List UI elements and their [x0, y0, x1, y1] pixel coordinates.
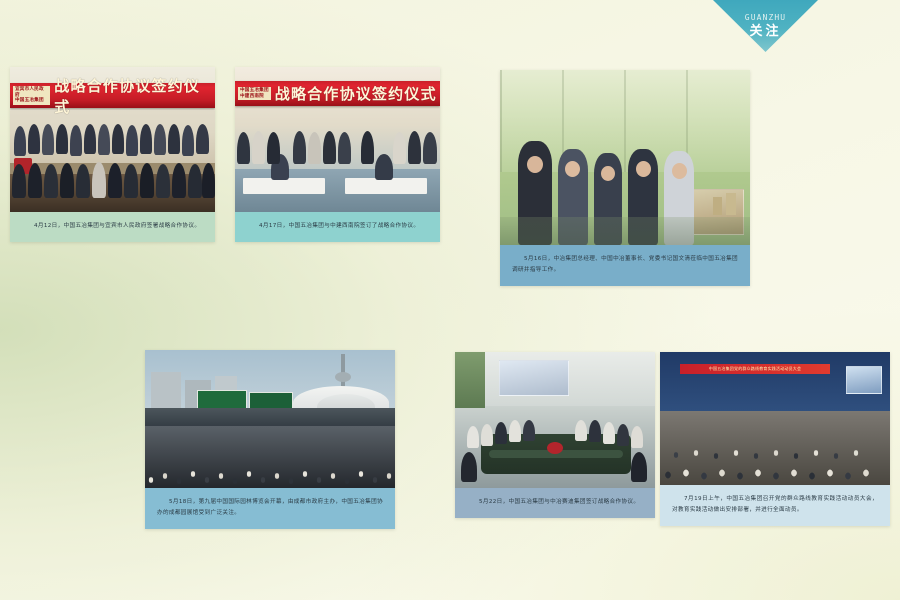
guanzhu-badge: GUANZHU 关注	[713, 0, 818, 52]
crowd-row-front	[10, 148, 215, 198]
photo-scene	[500, 70, 750, 245]
photo-caption-3: 5月16日，中冶集团总经理、中国中冶董事长、党委书记国文清莅临中国五冶集团调研并…	[500, 245, 750, 286]
photo-caption-1: 4月12日，中国五冶集团与宜宾市人民政府签署战略合作协议。	[10, 212, 215, 242]
badge-chinese-label: 关注	[749, 25, 781, 38]
expo-crowd	[145, 426, 395, 488]
photo-card-4[interactable]: 5月18日，第九届中国国际园林博览会开幕，由成都市政府主办，中国五冶集团协办的成…	[145, 350, 395, 529]
photo-signing-ceremony-cscec: 中国五冶集团 中建西南院 战略合作协议签约仪式	[235, 67, 440, 212]
caption-text: 4月17日，中国五冶集团与中建西南院签订了战略合作协议。	[259, 223, 419, 229]
badge-english-label: GUANZHU	[745, 14, 786, 22]
witness-row	[235, 116, 440, 164]
photo-scene: 中国五冶集团 中建西南院 战略合作协议签约仪式	[235, 67, 440, 212]
banner-lead-text: 中国五冶集团 中建西南院	[238, 87, 271, 100]
photo-card-1[interactable]: 宜宾市人民政府 中国五冶集团 战略合作协议签约仪式	[10, 67, 215, 242]
banner-strip: 中国五冶集团 中建西南院 战略合作协议签约仪式	[235, 81, 440, 106]
caption-text: 5月16日，中冶集团总经理、中国中冶董事长、党委书记国文清莅临中国五冶集团调研并…	[512, 256, 738, 273]
stage-banner: 中国五冶集团党的群众路线教育实践活动动员大会	[680, 364, 830, 374]
banner-lead-text: 宜宾市人民政府 中国五冶集团	[13, 86, 50, 105]
caption-text: 4月12日，中国五冶集团与宜宾市人民政府签署战略合作协议。	[34, 223, 200, 229]
photo-caption-5: 5月22日，中国五冶集团与中冶赛迪集团签订战略合作协议。	[455, 488, 655, 518]
banner-strip: 宜宾市人民政府 中国五冶集团 战略合作协议签约仪式	[10, 83, 215, 108]
photo-caption-2: 4月17日，中国五冶集团与中建西南院签订了战略合作协议。	[235, 212, 440, 242]
banner-title-text: 战略合作协议签约仪式	[275, 83, 437, 104]
page-background: GUANZHU 关注 宜宾市人民政府 中国五冶集团 战略合作协议签约仪式	[0, 0, 900, 600]
caption-text: 5月22日，中国五冶集团与中冶赛迪集团签订战略合作协议。	[479, 499, 639, 505]
photo-leader-inspection	[500, 70, 750, 245]
caption-text: 7月19日上午，中国五冶集团召开党的群众路线教育实践活动动员大会，对教育实践活动…	[672, 496, 878, 513]
photo-scene: 宜宾市人民政府 中国五冶集团 战略合作协议签约仪式	[10, 67, 215, 212]
photo-scene: 中国五冶集团党的群众路线教育实践活动动员大会	[660, 352, 890, 485]
photo-scene	[145, 350, 395, 488]
photo-meeting-room-cisdi	[455, 352, 655, 488]
caption-text: 5月18日，第九届中国国际园林博览会开幕，由成都市政府主办，中国五冶集团协办的成…	[157, 499, 383, 516]
projection-screen	[499, 360, 569, 396]
photo-scene	[455, 352, 655, 488]
photo-card-3[interactable]: 5月16日，中冶集团总经理、中国中冶董事长、党委书记国文清莅临中国五冶集团调研并…	[500, 70, 750, 286]
photo-caption-6: 7月19日上午，中国五冶集团召开党的群众路线教育实践活动动员大会，对教育实践活动…	[660, 485, 890, 526]
photo-card-5[interactable]: 5月22日，中国五冶集团与中冶赛迪集团签订战略合作协议。	[455, 352, 655, 518]
photo-caption-4: 5月18日，第九届中国国际园林博览会开幕，由成都市政府主办，中国五冶集团协办的成…	[145, 488, 395, 529]
assembly-crowd	[660, 411, 890, 485]
photo-card-2[interactable]: 中国五冶集团 中建西南院 战略合作协议签约仪式	[235, 67, 440, 242]
stage-banner-text: 中国五冶集团党的群众路线教育实践活动动员大会	[680, 364, 830, 374]
photo-signing-ceremony-yibin: 宜宾市人民政府 中国五冶集团 战略合作协议签约仪式	[10, 67, 215, 212]
photo-party-mobilization-assembly: 中国五冶集团党的群众路线教育实践活动动员大会	[660, 352, 890, 485]
photo-garden-expo-opening	[145, 350, 395, 488]
banner-title-text: 战略合作协议签约仪式	[54, 75, 215, 117]
side-screen	[846, 366, 882, 394]
photo-card-6[interactable]: 中国五冶集团党的群众路线教育实践活动动员大会 7月19日上午，中国五冶集团召开党…	[660, 352, 890, 526]
